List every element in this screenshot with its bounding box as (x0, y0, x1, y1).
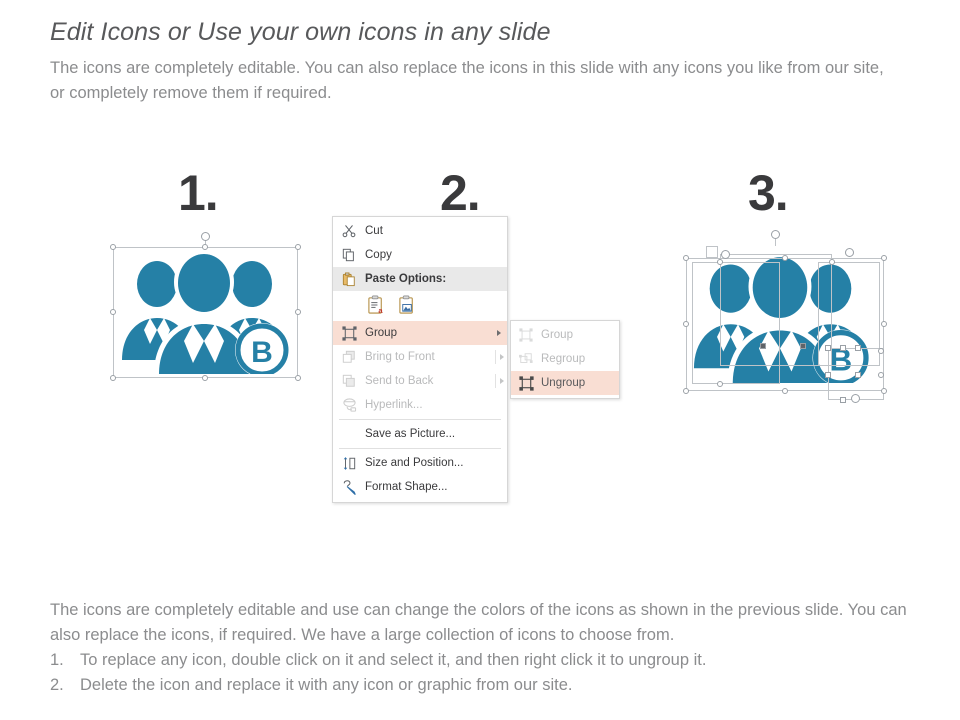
menu-item-bring-to-front[interactable]: Bring to Front (333, 345, 507, 369)
menu-item-bring-to-front-label: Bring to Front (365, 351, 491, 363)
resize-handle-n-1[interactable] (202, 244, 208, 250)
handle-3-18[interactable] (840, 345, 846, 351)
handle-3-17[interactable] (855, 372, 861, 378)
svg-text:B: B (251, 336, 273, 369)
handle-3-1[interactable] (683, 255, 689, 261)
handle-3-3[interactable] (881, 255, 887, 261)
menu-item-copy-label: Copy (365, 249, 491, 261)
handle-3-5[interactable] (881, 321, 887, 327)
submenu-item-group[interactable]: Group (511, 323, 619, 347)
chevron-right-icon-disabled (491, 350, 507, 364)
business-team-graphic-3: B (688, 255, 873, 383)
menu-item-send-to-back[interactable]: Send to Back (333, 369, 507, 393)
menu-item-paste-options: Paste Options: (333, 267, 507, 291)
rotation-handle-3b[interactable] (721, 250, 730, 259)
step-number-2: 2. (440, 168, 480, 218)
resize-handle-sw-1[interactable] (110, 375, 116, 381)
menu-item-group[interactable]: Group (333, 321, 507, 345)
list-item-number: 2. (50, 673, 66, 698)
resize-handle-ne-1[interactable] (295, 244, 301, 250)
handle-3-6[interactable] (683, 388, 689, 394)
paste-options-label: Paste Options: (365, 273, 491, 285)
handle-3-14[interactable] (825, 345, 831, 351)
group-icon (333, 321, 365, 345)
handle-3-11[interactable] (717, 381, 723, 387)
menu-item-hyperlink-label: Hyperlink... (365, 399, 491, 411)
paste-keep-text-icon[interactable]: a (367, 295, 386, 318)
empty-icon-slot (333, 422, 365, 446)
handle-3-8[interactable] (881, 388, 887, 394)
menu-item-save-as-picture[interactable]: Save as Picture... (333, 422, 507, 446)
menu-item-cut[interactable]: Cut (333, 219, 507, 243)
list-item-number: 1. (50, 648, 66, 673)
submenu-item-regroup-label: Regroup (541, 353, 619, 365)
group-submenu[interactable]: Group Regroup (510, 320, 620, 399)
format-shape-icon (333, 475, 365, 499)
business-team-graphic: B (117, 252, 292, 374)
submenu-item-ungroup[interactable]: Ungroup (511, 371, 619, 395)
menu-item-size-and-position[interactable]: Size and Position... (333, 451, 507, 475)
list-item-text: To replace any icon, double click on it … (80, 648, 706, 673)
list-item-text: Delete the icon and replace it with any … (80, 673, 573, 698)
handle-3-13[interactable] (800, 343, 806, 349)
handle-3-15[interactable] (855, 345, 861, 351)
paste-picture-icon[interactable] (398, 295, 417, 318)
handle-3-9[interactable] (717, 259, 723, 265)
hyperlink-icon (333, 393, 365, 417)
paste-options-row[interactable]: a (333, 291, 507, 321)
rotation-handle-3d[interactable] (851, 394, 860, 403)
handle-3-16[interactable] (825, 372, 831, 378)
handle-3-7[interactable] (782, 388, 788, 394)
menu-item-size-and-position-label: Size and Position... (365, 457, 491, 469)
business-team-icon-1[interactable]: B (117, 252, 292, 374)
page-title: Edit Icons or Use your own icons in any … (50, 18, 930, 47)
size-position-icon (333, 451, 365, 475)
footer-block: The icons are completely editable and us… (50, 598, 940, 698)
list-item: 1. To replace any icon, double click on … (50, 648, 940, 673)
send-to-back-icon (333, 369, 365, 393)
resize-handle-se-1[interactable] (295, 375, 301, 381)
chevron-right-icon-disabled (491, 374, 507, 388)
menu-item-format-shape-label: Format Shape... (365, 481, 491, 493)
handle-3-12[interactable] (760, 343, 766, 349)
handle-3-10[interactable] (829, 259, 835, 265)
handle-3-4[interactable] (683, 321, 689, 327)
handle-3-21[interactable] (878, 372, 884, 378)
resize-handle-nw-1[interactable] (110, 244, 116, 250)
menu-item-save-as-picture-label: Save as Picture... (365, 428, 491, 440)
step-number-1: 1. (178, 168, 218, 218)
menu-item-group-label: Group (365, 327, 491, 339)
submenu-item-group-label: Group (541, 329, 619, 341)
ungroup-icon (511, 371, 541, 395)
handle-3-19[interactable] (840, 397, 846, 403)
menu-separator (339, 448, 501, 449)
submenu-item-ungroup-label: Ungroup (541, 377, 619, 389)
list-item: 2. Delete the icon and replace it with a… (50, 673, 940, 698)
submenu-item-regroup[interactable]: Regroup (511, 347, 619, 371)
rotation-handle-3a[interactable] (771, 230, 780, 239)
paste-icon (333, 267, 365, 291)
footer-list: 1. To replace any icon, double click on … (50, 648, 940, 698)
bring-to-front-icon (333, 345, 365, 369)
menu-item-cut-label: Cut (365, 225, 491, 237)
scissors-icon (333, 219, 365, 243)
svg-text:a: a (378, 306, 383, 315)
chevron-right-icon (491, 330, 507, 336)
handle-3-2[interactable] (782, 255, 788, 261)
footer-paragraph: The icons are completely editable and us… (50, 598, 940, 648)
copy-icon (333, 243, 365, 267)
group-icon (511, 323, 541, 347)
rotation-handle-1[interactable] (201, 232, 210, 241)
context-menu[interactable]: Cut Copy Paste Options: (332, 216, 508, 503)
menu-item-send-to-back-label: Send to Back (365, 375, 491, 387)
menu-item-hyperlink[interactable]: Hyperlink... (333, 393, 507, 417)
slide-canvas: Edit Icons or Use your own icons in any … (0, 0, 960, 720)
handle-3-20[interactable] (878, 348, 884, 354)
business-team-icon-3[interactable]: B (688, 255, 873, 383)
rotation-handle-3c[interactable] (845, 248, 854, 257)
step-number-3: 3. (748, 168, 788, 218)
page-subtitle: The icons are completely editable. You c… (50, 56, 890, 106)
resize-handle-w-1[interactable] (110, 309, 116, 315)
menu-item-copy[interactable]: Copy (333, 243, 507, 267)
regroup-icon (511, 347, 541, 371)
menu-item-format-shape[interactable]: Format Shape... (333, 475, 507, 499)
resize-handle-s-1[interactable] (202, 375, 208, 381)
resize-handle-e-1[interactable] (295, 309, 301, 315)
menu-separator (339, 419, 501, 420)
